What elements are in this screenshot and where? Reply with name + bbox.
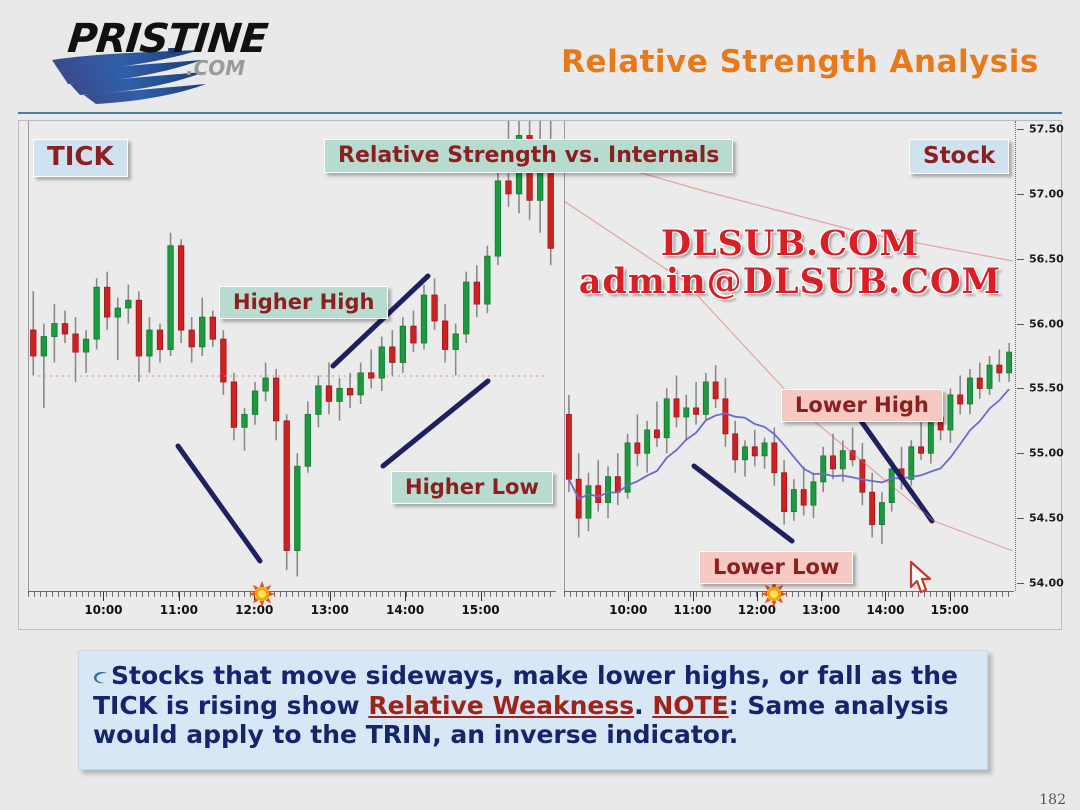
x-axis-minor-tick [966, 592, 967, 597]
x-axis-minor-tick [570, 592, 571, 597]
x-axis-minor-tick [1008, 592, 1009, 597]
x-axis-minor-tick [358, 592, 359, 597]
x-axis-minor-tick [708, 592, 709, 597]
x-axis-minor-tick [672, 592, 673, 597]
y-axis-tick-mark [1017, 129, 1024, 130]
x-axis-minor-tick [226, 592, 227, 597]
x-axis-minor-tick [376, 592, 377, 597]
x-axis-minor-tick [544, 592, 545, 597]
callout-stock: Stock [909, 139, 1009, 174]
x-axis-tick-label: 13:00 [802, 603, 840, 617]
x-axis-minor-tick [696, 592, 697, 597]
x-axis-minor-tick [684, 592, 685, 597]
y-axis-tick-mark [1017, 388, 1024, 389]
x-axis-major-tick [481, 592, 482, 601]
x-axis-minor-tick [810, 592, 811, 597]
x-axis-minor-tick [576, 592, 577, 597]
x-axis-tick-label: 14:00 [866, 603, 904, 617]
x-axis-minor-tick [94, 592, 95, 597]
x-axis-tick-label: 15:00 [461, 603, 499, 617]
x-axis-major-tick [885, 592, 886, 601]
x-axis-minor-tick [526, 592, 527, 597]
x-axis-minor-tick [340, 592, 341, 597]
x-axis-minor-tick [648, 592, 649, 597]
x-axis-minor-tick [690, 592, 691, 597]
x-axis-minor-tick [28, 592, 29, 597]
x-axis-minor-tick [76, 592, 77, 597]
x-axis-minor-tick [858, 592, 859, 597]
x-axis-minor-tick [418, 592, 419, 597]
y-axis-tick-label: 56.50 [1029, 252, 1064, 265]
page-title: Relative Strength Analysis [540, 44, 1060, 80]
x-axis-minor-tick [828, 592, 829, 597]
x-axis-major-tick [821, 592, 822, 601]
x-axis-major-tick [405, 592, 406, 601]
x-axis-minor-tick [214, 592, 215, 597]
x-axis-minor-tick [864, 592, 865, 597]
x-axis-minor-tick [840, 592, 841, 597]
x-axis-minor-tick [852, 592, 853, 597]
callout-tick: TICK [33, 139, 128, 177]
y-axis: 57.5057.0056.5056.0055.5055.0054.5054.00 [1015, 121, 1063, 591]
x-axis-minor-tick [822, 592, 823, 597]
x-axis-major-tick [103, 592, 104, 601]
sun-marker-icon-left [249, 581, 275, 607]
x-axis-minor-tick [654, 592, 655, 597]
x-axis-minor-tick [612, 592, 613, 597]
x-axis-minor-tick [172, 592, 173, 597]
x-axis-minor-tick [720, 592, 721, 597]
y-axis-tick-mark [1017, 194, 1024, 195]
mouse-cursor-icon [909, 561, 935, 595]
callout-lower-low: Lower Low [699, 551, 853, 584]
x-axis-minor-tick [346, 592, 347, 597]
x-axis-minor-tick [364, 592, 365, 597]
x-axis-minor-tick [148, 592, 149, 597]
x-axis-minor-tick [954, 592, 955, 597]
x-axis-minor-tick [112, 592, 113, 597]
x-axis-minor-tick [466, 592, 467, 597]
x-axis-minor-tick [58, 592, 59, 597]
x-axis-minor-tick [118, 592, 119, 597]
x-axis-minor-tick [160, 592, 161, 597]
x-axis-minor-tick [846, 592, 847, 597]
x-axis-minor-tick [166, 592, 167, 597]
x-axis-minor-tick [490, 592, 491, 597]
x-axis-minor-tick [196, 592, 197, 597]
x-axis-minor-tick [594, 592, 595, 597]
x-axis-minor-tick [52, 592, 53, 597]
x-axis-minor-tick [606, 592, 607, 597]
x-axis-minor-tick [816, 592, 817, 597]
x-axis-minor-tick [154, 592, 155, 597]
x-axis-major-tick [757, 592, 758, 601]
x-axis-minor-tick [298, 592, 299, 597]
x-axis-minor-tick [388, 592, 389, 597]
x-axis-minor-tick [900, 592, 901, 597]
x-axis-minor-tick [430, 592, 431, 597]
note-emphasis-1: Relative Weakness [368, 691, 634, 720]
x-axis-minor-tick [996, 592, 997, 597]
x-axis-minor-tick [100, 592, 101, 597]
x-axis-minor-tick [454, 592, 455, 597]
x-axis-tick-label: 13:00 [311, 603, 349, 617]
x-axis-minor-tick [280, 592, 281, 597]
x-axis-minor-tick [478, 592, 479, 597]
chart-panel: 57.5057.0056.5056.0055.5055.0054.5054.00… [18, 120, 1062, 630]
note-emphasis-2: NOTE [652, 691, 728, 720]
x-axis-minor-tick [292, 592, 293, 597]
x-axis-minor-tick [286, 592, 287, 597]
x-axis-tick-label: 11:00 [673, 603, 711, 617]
y-axis-line [1015, 121, 1016, 591]
x-axis-minor-tick [70, 592, 71, 597]
y-axis-tick-label: 54.00 [1029, 577, 1064, 590]
x-axis-minor-tick [142, 592, 143, 597]
x-axis-minor-tick [238, 592, 239, 597]
x-axis-minor-tick [244, 592, 245, 597]
x-axis-minor-tick [660, 592, 661, 597]
x-axis-minor-tick [124, 592, 125, 597]
x-axis-minor-tick [630, 592, 631, 597]
x-axis-minor-tick [550, 592, 551, 597]
y-axis-tick-mark [1017, 518, 1024, 519]
y-axis-tick-mark [1017, 453, 1024, 454]
x-axis-minor-tick [870, 592, 871, 597]
x-axis-minor-tick [702, 592, 703, 597]
x-axis-minor-tick [88, 592, 89, 597]
tick-plot-frame [28, 121, 556, 591]
x-axis-minor-tick [502, 592, 503, 597]
x-axis-stock-panel: 10:0011:0012:0013:0014:0015:00 [564, 591, 1014, 612]
x-axis-minor-tick [46, 592, 47, 597]
x-axis-minor-tick [936, 592, 937, 597]
x-axis-minor-tick [984, 592, 985, 597]
x-axis-minor-tick [990, 592, 991, 597]
x-axis-minor-tick [394, 592, 395, 597]
x-axis-minor-tick [232, 592, 233, 597]
x-axis-minor-tick [906, 592, 907, 597]
x-axis-minor-tick [520, 592, 521, 597]
x-axis-minor-tick [532, 592, 533, 597]
tick-plot [28, 121, 556, 591]
slide-header: PRISTINE .COM Relative Strength Analysis [0, 0, 1080, 112]
x-axis-minor-tick [136, 592, 137, 597]
x-axis-minor-tick [972, 592, 973, 597]
x-axis-minor-tick [582, 592, 583, 597]
sun-marker-icon-right [761, 581, 787, 607]
x-axis-minor-tick [738, 592, 739, 597]
x-axis-minor-tick [960, 592, 961, 597]
x-axis-minor-tick [508, 592, 509, 597]
x-axis-minor-tick [624, 592, 625, 597]
x-axis-minor-tick [484, 592, 485, 597]
x-axis-tick-label: 14:00 [386, 603, 424, 617]
x-axis-minor-tick [202, 592, 203, 597]
x-axis-minor-tick [304, 592, 305, 597]
x-axis-tick-label: 15:00 [931, 603, 969, 617]
y-axis-tick-label: 57.50 [1029, 123, 1064, 136]
y-axis-tick-label: 56.00 [1029, 317, 1064, 330]
note-text: Stocks that move sideways, make lower hi… [93, 661, 971, 750]
x-axis-minor-tick [82, 592, 83, 597]
x-axis-minor-tick [322, 592, 323, 597]
x-axis-major-tick [950, 592, 951, 601]
callout-higher-low: Higher Low [391, 471, 553, 504]
x-axis-minor-tick [424, 592, 425, 597]
x-axis-tick-label: 11:00 [160, 603, 198, 617]
swoosh-bullet-icon [93, 671, 109, 685]
x-axis-minor-tick [190, 592, 191, 597]
x-axis-minor-tick [876, 592, 877, 597]
x-axis-minor-tick [600, 592, 601, 597]
x-axis-minor-tick [412, 592, 413, 597]
x-axis-minor-tick [40, 592, 41, 597]
x-axis-minor-tick [636, 592, 637, 597]
x-axis-minor-tick [618, 592, 619, 597]
callout-higher-high: Higher High [219, 286, 388, 319]
x-axis-minor-tick [382, 592, 383, 597]
pristine-logo: PRISTINE .COM [50, 12, 280, 97]
x-axis-minor-tick [714, 592, 715, 597]
x-axis-minor-tick [834, 592, 835, 597]
x-axis-minor-tick [184, 592, 185, 597]
x-axis-minor-tick [882, 592, 883, 597]
x-axis-minor-tick [588, 592, 589, 597]
x-axis-minor-tick [744, 592, 745, 597]
page-number: 182 [1039, 792, 1066, 808]
note-part-2: . [634, 691, 652, 720]
x-axis-minor-tick [726, 592, 727, 597]
x-axis-minor-tick [436, 592, 437, 597]
y-axis-tick-mark [1017, 324, 1024, 325]
x-axis-major-tick [693, 592, 694, 601]
y-axis-tick-label: 55.50 [1029, 382, 1064, 395]
callout-headline: Relative Strength vs. Internals [324, 139, 733, 173]
x-axis-minor-tick [496, 592, 497, 597]
x-axis-minor-tick [792, 592, 793, 597]
x-axis-tick-panel: 10:0011:0012:0013:0014:0015:00 [28, 591, 556, 612]
x-axis-minor-tick [678, 592, 679, 597]
x-axis-minor-tick [804, 592, 805, 597]
x-axis-minor-tick [310, 592, 311, 597]
header-divider [18, 112, 1062, 114]
x-axis-minor-tick [208, 592, 209, 597]
x-axis-minor-tick [130, 592, 131, 597]
y-axis-tick-mark [1017, 583, 1024, 584]
x-axis-minor-tick [798, 592, 799, 597]
x-axis-minor-tick [400, 592, 401, 597]
x-axis-minor-tick [472, 592, 473, 597]
x-axis-minor-tick [1002, 592, 1003, 597]
x-axis-minor-tick [370, 592, 371, 597]
y-axis-tick-label: 57.00 [1029, 187, 1064, 200]
x-axis-minor-tick [642, 592, 643, 597]
x-axis-major-tick [179, 592, 180, 601]
y-axis-tick-label: 55.00 [1029, 447, 1064, 460]
x-axis-minor-tick [666, 592, 667, 597]
x-axis-minor-tick [64, 592, 65, 597]
x-axis-minor-tick [448, 592, 449, 597]
stock-plot [564, 121, 1014, 591]
logo-domain-suffix: .COM [186, 56, 245, 80]
x-axis-minor-tick [978, 592, 979, 597]
x-axis-minor-tick [106, 592, 107, 597]
x-axis-minor-tick [316, 592, 317, 597]
x-axis-minor-tick [34, 592, 35, 597]
x-axis-major-tick [628, 592, 629, 601]
x-axis-minor-tick [442, 592, 443, 597]
y-axis-tick-label: 54.50 [1029, 512, 1064, 525]
x-axis-tick-label: 10:00 [84, 603, 122, 617]
x-axis-minor-tick [352, 592, 353, 597]
x-axis-minor-tick [564, 592, 565, 597]
x-axis-minor-tick [514, 592, 515, 597]
x-axis-minor-tick [894, 592, 895, 597]
x-axis-minor-tick [750, 592, 751, 597]
x-axis-minor-tick [220, 592, 221, 597]
callout-lower-high: Lower High [781, 389, 943, 422]
x-axis-minor-tick [888, 592, 889, 597]
x-axis-minor-tick [732, 592, 733, 597]
y-axis-tick-mark [1017, 259, 1024, 260]
x-axis-minor-tick [538, 592, 539, 597]
note-box: Stocks that move sideways, make lower hi… [78, 650, 988, 770]
x-axis-tick-label: 10:00 [609, 603, 647, 617]
x-axis-minor-tick [942, 592, 943, 597]
x-axis-minor-tick [334, 592, 335, 597]
stock-plot-frame [564, 121, 1014, 591]
x-axis-major-tick [330, 592, 331, 601]
x-axis-minor-tick [406, 592, 407, 597]
x-axis-minor-tick [460, 592, 461, 597]
